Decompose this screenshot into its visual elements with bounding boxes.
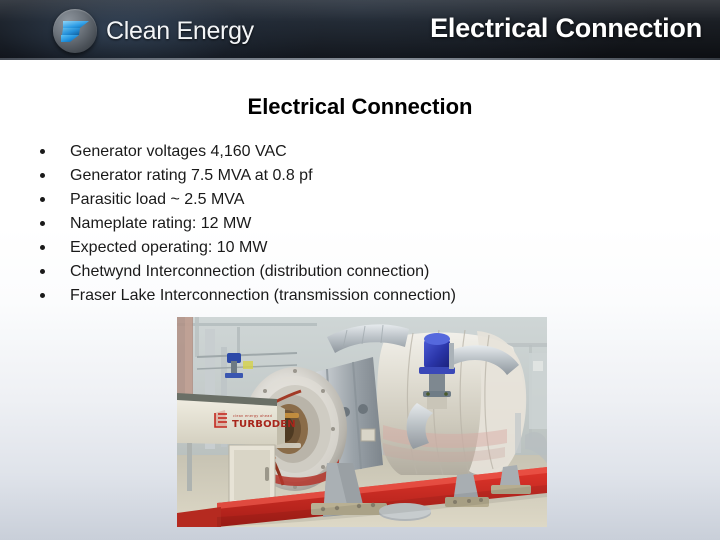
svg-text:TURBODEN: TURBODEN bbox=[232, 419, 296, 430]
brand-name: Clean Energy bbox=[106, 17, 254, 46]
bullet-dot-icon bbox=[40, 269, 45, 274]
list-item: Nameplate rating: 12 MW bbox=[34, 212, 684, 236]
bullet-dot-icon bbox=[40, 293, 45, 298]
svg-text:clean energy ahead: clean energy ahead bbox=[233, 414, 272, 418]
slide: Clean Energy Electrical Connection Elect… bbox=[0, 0, 720, 540]
list-item-label: Parasitic load ~ 2.5 MVA bbox=[70, 191, 244, 208]
bullet-dot-icon bbox=[40, 221, 45, 226]
list-item: Parasitic load ~ 2.5 MVA bbox=[34, 188, 684, 212]
bullet-list: Generator voltages 4,160 VAC Generator r… bbox=[34, 140, 684, 308]
slide-header-band: Clean Energy Electrical Connection bbox=[0, 0, 720, 60]
list-item-label: Generator voltages 4,160 VAC bbox=[70, 143, 287, 160]
list-item-label: Nameplate rating: 12 MW bbox=[70, 215, 251, 232]
page-title: Electrical Connection bbox=[430, 13, 702, 44]
list-item: Generator rating 7.5 MVA at 0.8 pf bbox=[34, 164, 684, 188]
list-item: Expected operating: 10 MW bbox=[34, 236, 684, 260]
orc-turbine-generator-photo: clean energy ahead TURBODEN bbox=[177, 317, 547, 527]
list-item: Chetwynd Interconnection (distribution c… bbox=[34, 260, 684, 284]
list-item-label: Fraser Lake Interconnection (transmissio… bbox=[70, 287, 456, 304]
bullet-dot-icon bbox=[40, 173, 45, 178]
bullet-dot-icon bbox=[40, 149, 45, 154]
content-heading: Electrical Connection bbox=[0, 94, 720, 120]
list-item-label: Chetwynd Interconnection (distribution c… bbox=[70, 263, 429, 280]
bullet-dot-icon bbox=[40, 197, 45, 202]
list-item: Generator voltages 4,160 VAC bbox=[34, 140, 684, 164]
clean-energy-circle-logo-icon bbox=[53, 9, 97, 53]
list-item: Fraser Lake Interconnection (transmissio… bbox=[34, 284, 684, 308]
brand-logo: Clean Energy bbox=[53, 9, 254, 53]
list-item-label: Generator rating 7.5 MVA at 0.8 pf bbox=[70, 167, 313, 184]
bullet-dot-icon bbox=[40, 245, 45, 250]
list-item-label: Expected operating: 10 MW bbox=[70, 239, 267, 256]
